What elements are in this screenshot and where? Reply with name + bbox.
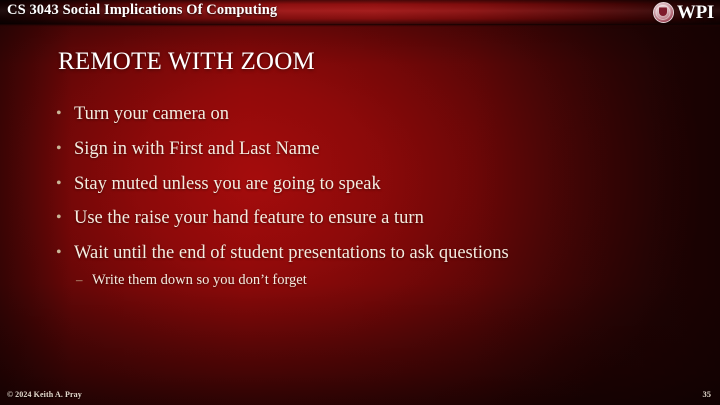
list-item-label: Stay muted unless you are going to speak [74, 174, 381, 195]
sub-bullet-list: – Write them down so you don’t forget [56, 272, 696, 289]
bullet-point-icon: • [56, 245, 74, 261]
list-item: • Turn your camera on [56, 104, 696, 125]
slide-number: 35 [703, 389, 712, 399]
bullet-point-icon: • [56, 210, 74, 226]
presentation-slide: CS 3043 Social Implications Of Computing… [0, 0, 720, 405]
wpi-logo: WPI [653, 1, 714, 23]
header-underline [0, 24, 720, 27]
wpi-wordmark: WPI [677, 3, 714, 22]
list-item: • Use the raise your hand feature to ens… [56, 208, 696, 229]
list-item-label: Sign in with First and Last Name [74, 139, 320, 160]
list-item: • Sign in with First and Last Name [56, 139, 696, 160]
list-item: • Stay muted unless you are going to spe… [56, 174, 696, 195]
sub-list-item-label: Write them down so you don’t forget [92, 272, 307, 289]
list-item-label: Turn your camera on [74, 104, 229, 125]
bullet-point-icon: • [56, 176, 74, 192]
wpi-seal-icon [653, 2, 674, 23]
bullet-point-icon: • [56, 106, 74, 122]
copyright-notice: © 2024 Keith A. Pray [7, 390, 82, 399]
list-item-label: Wait until the end of student presentati… [74, 243, 509, 264]
sub-list-item: – Write them down so you don’t forget [76, 272, 696, 289]
list-item-label: Use the raise your hand feature to ensur… [74, 208, 424, 229]
list-item: • Wait until the end of student presenta… [56, 243, 696, 264]
bullet-list: • Turn your camera on • Sign in with Fir… [56, 104, 696, 301]
dash-bullet-icon: – [76, 273, 92, 286]
course-title: CS 3043 Social Implications Of Computing [7, 2, 277, 19]
slide-header-bar: CS 3043 Social Implications Of Computing… [0, 0, 720, 24]
page-title: REMOTE WITH ZOOM [58, 48, 315, 76]
bullet-point-icon: • [56, 141, 74, 157]
